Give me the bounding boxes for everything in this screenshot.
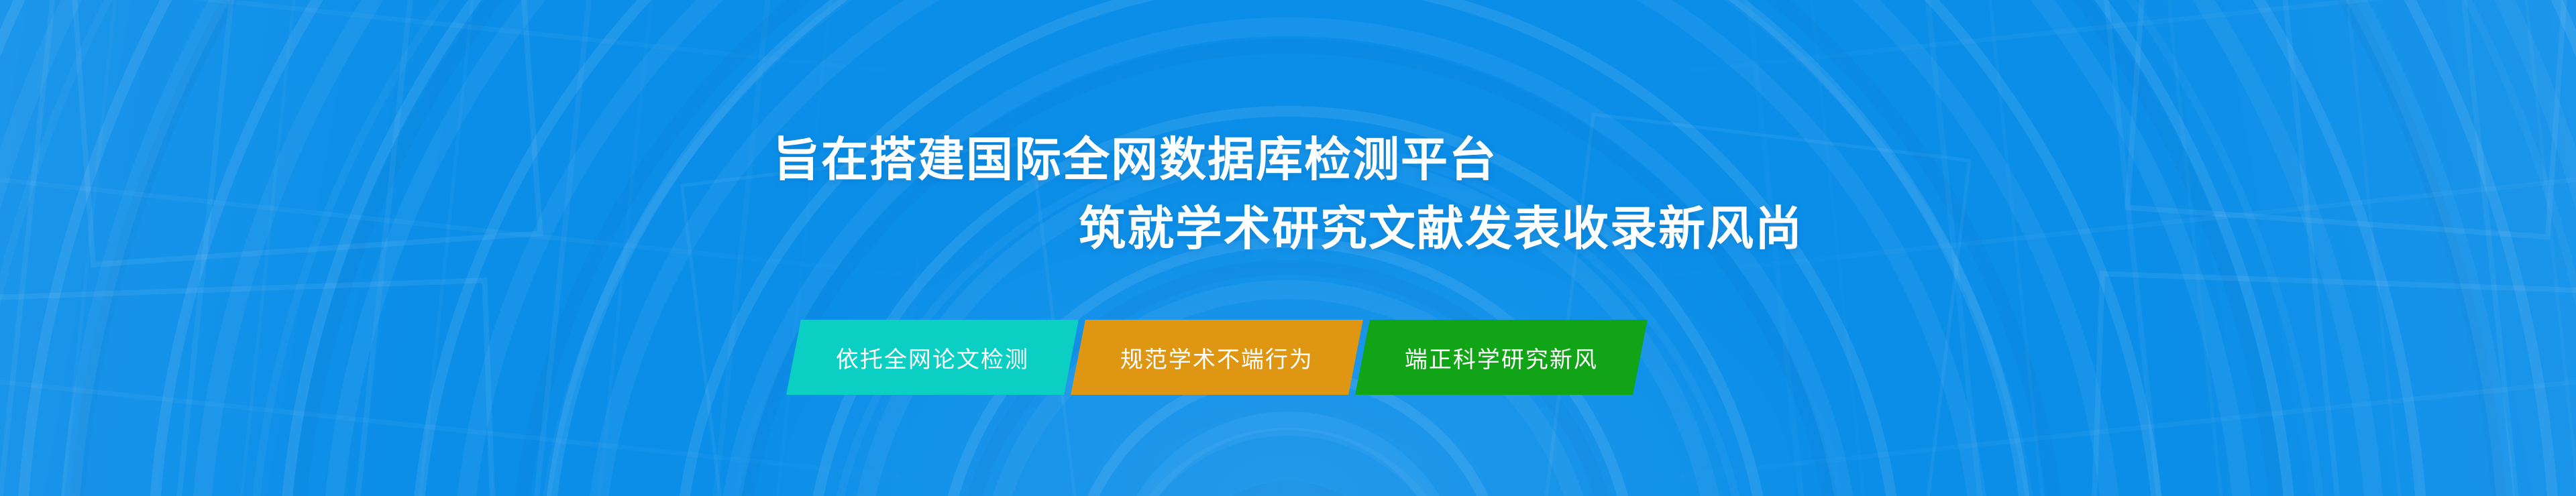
feature-tag-label: 规范学术不端行为 — [1120, 341, 1313, 374]
feature-tag-research-integrity[interactable]: 端正科学研究新风 — [1355, 320, 1648, 395]
feature-tag-label: 依托全网论文检测 — [836, 341, 1029, 374]
feature-tag-plagiarism-detection[interactable]: 依托全网论文检测 — [786, 320, 1079, 395]
headline-line-2: 筑就学术研究文献发表收录新风尚 — [1079, 205, 1803, 252]
feature-tag-strip: 依托全网论文检测 规范学术不端行为 端正科学研究新风 — [0, 320, 2576, 395]
headline-block: 旨在搭建国际全网数据库检测平台 筑就学术研究文献发表收录新风尚 — [0, 0, 2576, 496]
feature-tag-label: 端正科学研究新风 — [1405, 341, 1598, 374]
feature-tag-academic-misconduct[interactable]: 规范学术不端行为 — [1071, 320, 1363, 395]
promo-banner: 旨在搭建国际全网数据库检测平台 筑就学术研究文献发表收录新风尚 依托全网论文检测… — [0, 0, 2576, 496]
headline-line-1: 旨在搭建国际全网数据库检测平台 — [773, 136, 1497, 183]
